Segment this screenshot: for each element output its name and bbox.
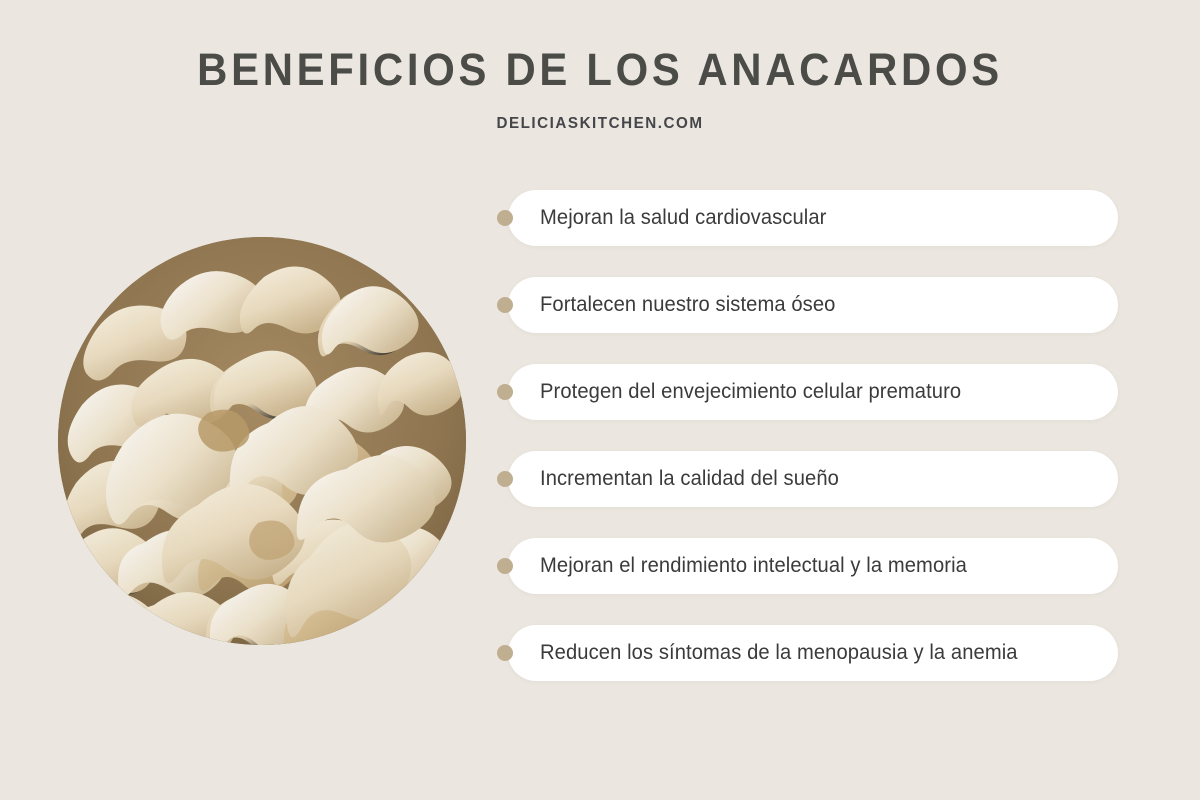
infographic-canvas: BENEFICIOS DE LOS ANACARDOS DELICIASKITC… — [0, 0, 1200, 800]
benefit-label: Mejoran el rendimiento intelectual y la … — [540, 538, 967, 594]
bullet-dot-icon — [497, 645, 513, 661]
list-item[interactable]: Mejoran el rendimiento intelectual y la … — [490, 538, 1130, 594]
list-item[interactable]: Fortalecen nuestro sistema óseo — [490, 277, 1130, 333]
benefit-label: Mejoran la salud cardiovascular — [540, 190, 826, 246]
list-item[interactable]: Incrementan la calidad del sueño — [490, 451, 1130, 507]
cashew-nuts-illustration — [58, 237, 466, 645]
benefit-label: Incrementan la calidad del sueño — [540, 451, 839, 507]
benefit-label: Fortalecen nuestro sistema óseo — [540, 277, 835, 333]
bullet-dot-icon — [497, 384, 513, 400]
benefits-list: Mejoran la salud cardiovascular Fortalec… — [490, 190, 1130, 681]
cashew-nuts-photo — [58, 237, 466, 645]
benefit-label: Reducen los síntomas de la menopausia y … — [540, 625, 1018, 681]
bullet-dot-icon — [497, 297, 513, 313]
benefit-label: Protegen del envejecimiento celular prem… — [540, 364, 961, 420]
header: BENEFICIOS DE LOS ANACARDOS DELICIASKITC… — [0, 0, 1200, 133]
list-item[interactable]: Mejoran la salud cardiovascular — [490, 190, 1130, 246]
bullet-dot-icon — [497, 210, 513, 226]
bullet-dot-icon — [497, 558, 513, 574]
page-title: BENEFICIOS DE LOS ANACARDOS — [42, 46, 1158, 93]
list-item[interactable]: Reducen los síntomas de la menopausia y … — [490, 625, 1130, 681]
list-item[interactable]: Protegen del envejecimiento celular prem… — [490, 364, 1130, 420]
site-attribution: DELICIASKITCHEN.COM — [30, 93, 1170, 133]
bullet-dot-icon — [497, 471, 513, 487]
